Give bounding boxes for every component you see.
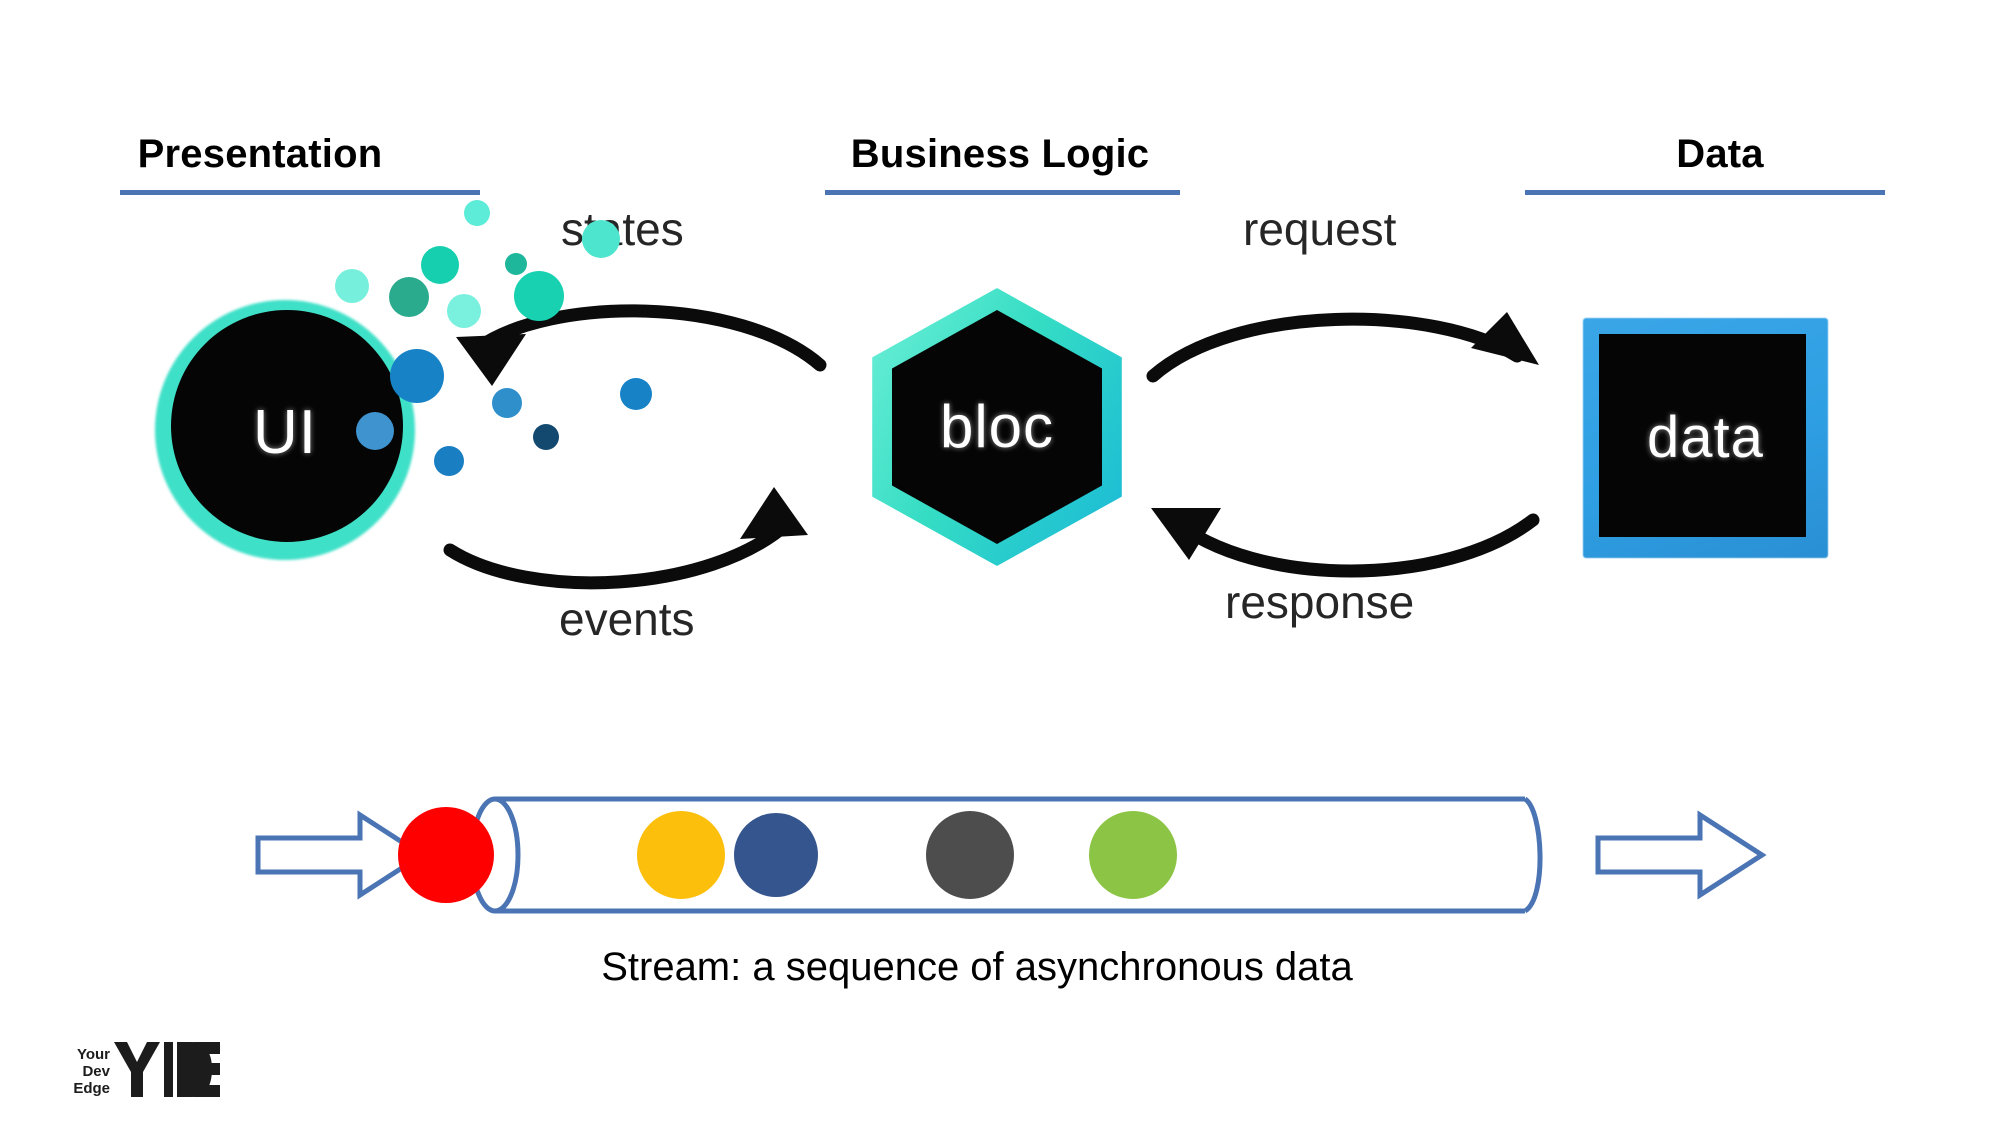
state-dot-3 (582, 220, 620, 258)
column-header-business-logic-label: Business Logic (851, 132, 1149, 176)
column-header-presentation: Presentation (120, 132, 400, 177)
ball-blue (734, 813, 818, 897)
node-data[interactable]: data (1583, 318, 1828, 558)
node-bloc[interactable]: bloc (872, 288, 1122, 566)
column-rule-business-logic (825, 190, 1180, 195)
logo-mark-icon (114, 1042, 220, 1097)
node-data-label: data (1647, 409, 1764, 467)
flow-label-states: states (561, 202, 684, 256)
state-dot-7 (514, 271, 564, 321)
node-bloc-label: bloc (940, 397, 1054, 457)
logo-tagline-line3: Edge (58, 1080, 110, 1097)
stream-outlet-arrow-icon (1590, 805, 1770, 905)
column-rule-presentation (120, 190, 480, 195)
ball-red (398, 807, 494, 903)
slide-canvas: Presentation Business Logic Data UI stat… (0, 0, 2000, 1125)
state-dot-1 (421, 246, 459, 284)
state-dot-0 (464, 200, 490, 226)
column-header-data: Data (1580, 132, 1860, 177)
ball-green (1089, 811, 1177, 899)
state-dot-5 (389, 277, 429, 317)
flow-label-request: request (1243, 202, 1396, 256)
flow-label-events: events (559, 592, 695, 646)
stream-caption: Stream: a sequence of asynchronous data (0, 945, 1977, 990)
response-arrow-icon (1145, 460, 1545, 590)
event-dot-5 (620, 378, 652, 410)
request-arrow-icon (1145, 290, 1545, 410)
event-dot-2 (356, 412, 394, 450)
ball-gray (926, 811, 1014, 899)
logo-tagline-line2: Dev (58, 1063, 110, 1080)
logo-tagline: Your Dev Edge (58, 1046, 110, 1097)
events-arrow-icon (440, 465, 820, 595)
column-rule-data (1525, 190, 1885, 195)
state-dot-6 (447, 294, 481, 328)
logo-tagline-line1: Your (58, 1046, 110, 1063)
column-header-data-label: Data (1676, 132, 1764, 176)
state-dot-4 (335, 269, 369, 303)
event-dot-1 (492, 388, 522, 418)
node-ui-label: UI (253, 402, 317, 464)
event-dot-3 (434, 446, 464, 476)
state-dot-2 (505, 253, 527, 275)
column-header-presentation-label: Presentation (138, 132, 383, 176)
ball-yellow (637, 811, 725, 899)
event-dot-0 (390, 349, 444, 403)
event-dot-4 (533, 424, 559, 450)
logo-yde: Your Dev Edge (58, 1040, 218, 1100)
column-header-business-logic: Business Logic (825, 132, 1175, 177)
